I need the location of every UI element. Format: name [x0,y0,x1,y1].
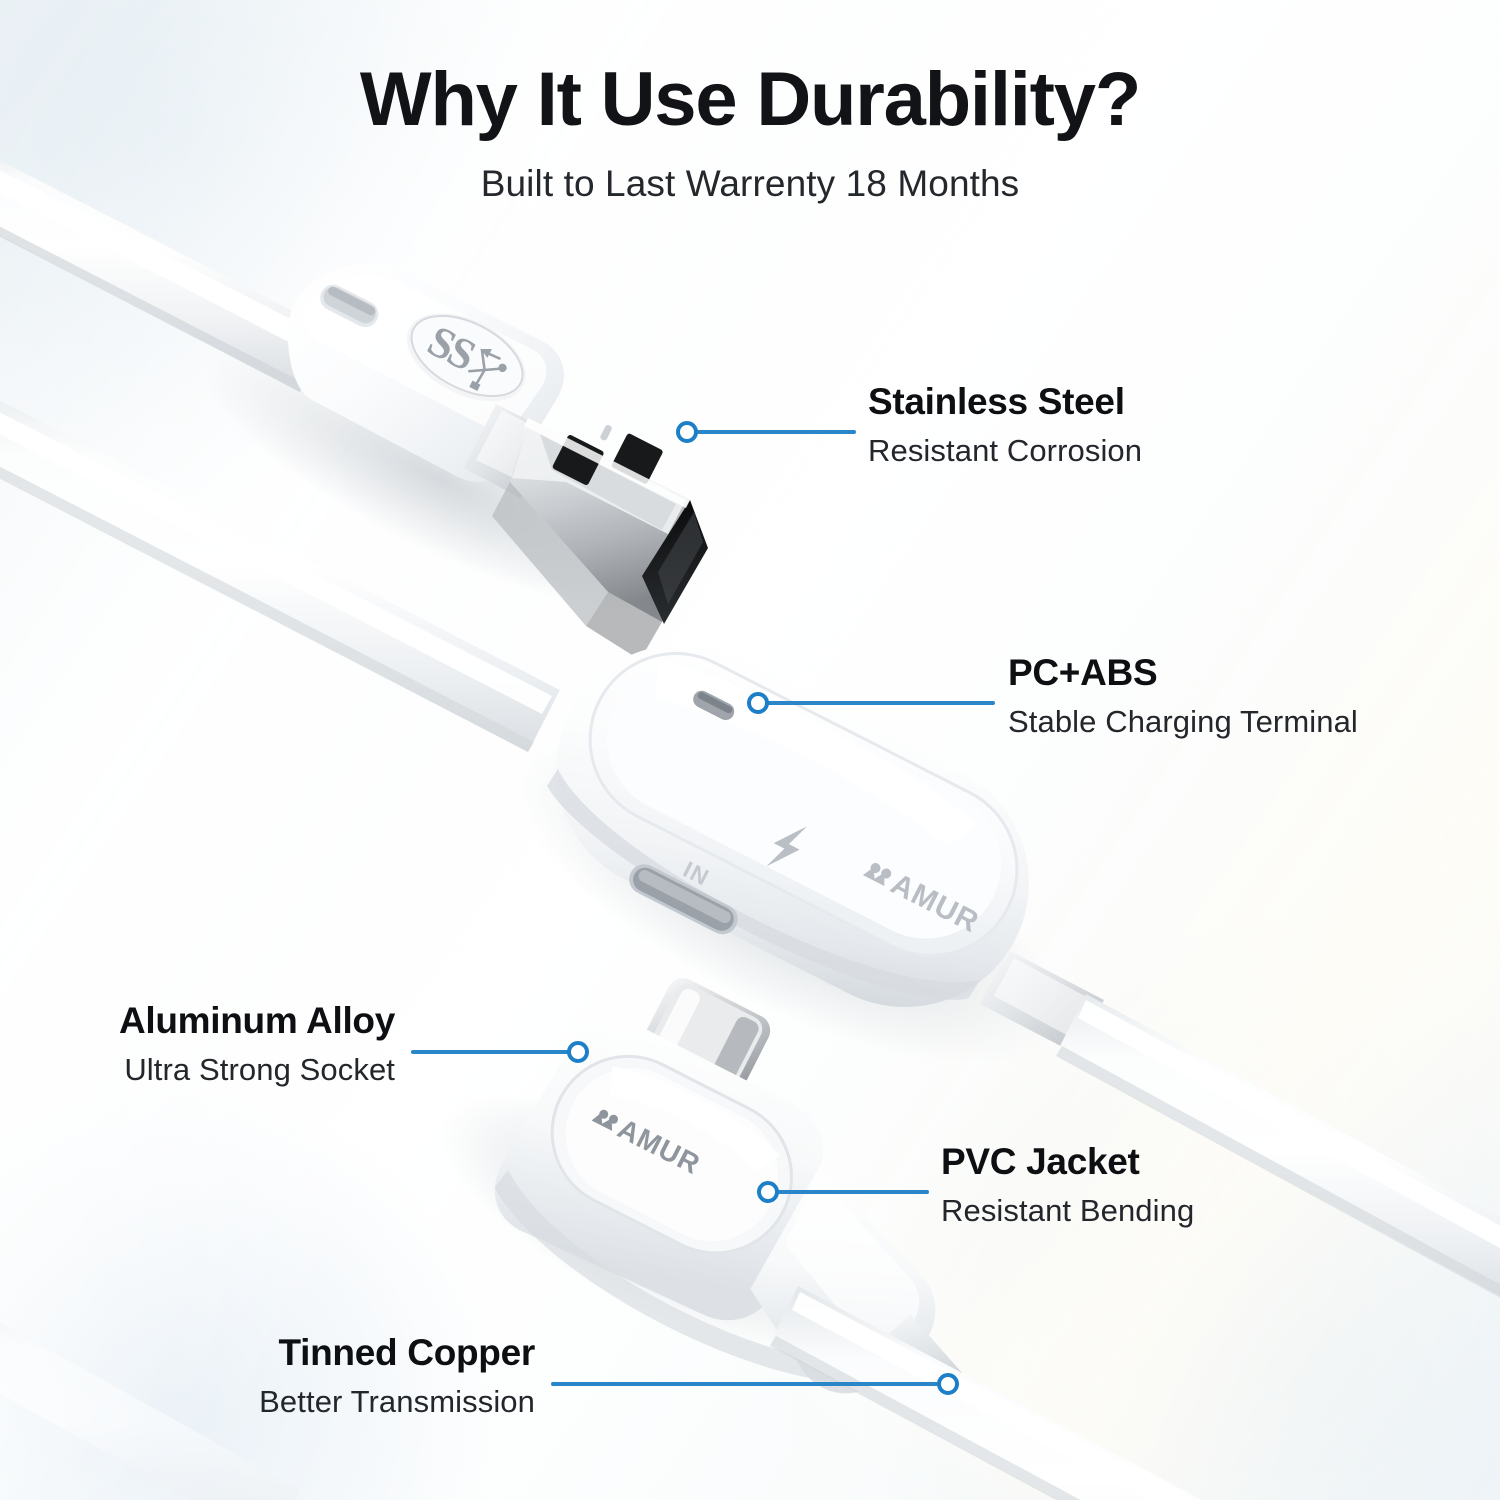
callout-title: PVC Jacket [941,1141,1194,1183]
callout-marker-pvc-jacket[interactable] [757,1181,779,1203]
callout-leader-stainless-steel [696,430,856,434]
callout-marker-aluminum-alloy[interactable] [567,1041,589,1063]
callout-leader-pc-abs [767,701,995,705]
callout-title: Aluminum Alloy [0,1000,395,1042]
infographic-canvas: S S [0,0,1500,1500]
callout-aluminum-alloy: Aluminum Alloy Ultra Strong Socket [0,1000,395,1088]
header-block: Why It Use Durability? Built to Last War… [0,60,1500,205]
callout-leader-aluminum-alloy [411,1050,571,1054]
product-illustration: S S [0,0,1500,1500]
callout-subtitle: Resistant Corrosion [868,433,1142,469]
callout-pc-abs: PC+ABS Stable Charging Terminal [1008,652,1358,740]
page-title: Why It Use Durability? [0,60,1500,141]
callout-marker-pc-abs[interactable] [747,692,769,714]
callout-title: PC+ABS [1008,652,1358,694]
callout-subtitle: Resistant Bending [941,1193,1194,1229]
callout-pvc-jacket: PVC Jacket Resistant Bending [941,1141,1194,1229]
callout-subtitle: Ultra Strong Socket [0,1052,395,1088]
page-subtitle: Built to Last Warrenty 18 Months [0,163,1500,205]
callout-subtitle: Better Transmission [0,1384,535,1420]
callout-tinned-copper: Tinned Copper Better Transmission [0,1332,535,1420]
callout-stainless-steel: Stainless Steel Resistant Corrosion [868,381,1142,469]
callout-marker-stainless-steel[interactable] [676,421,698,443]
callout-leader-tinned-copper [551,1382,941,1386]
callout-subtitle: Stable Charging Terminal [1008,704,1358,740]
callout-leader-pvc-jacket [777,1190,929,1194]
callout-title: Tinned Copper [0,1332,535,1374]
callout-marker-tinned-copper[interactable] [937,1373,959,1395]
callout-title: Stainless Steel [868,381,1142,423]
